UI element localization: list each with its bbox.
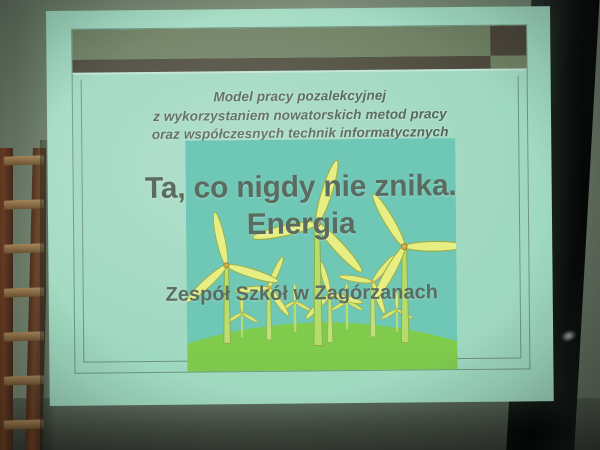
wall-bar-rung (4, 287, 44, 297)
slide-subtitle: Model pracy pozalekcyjnej z wykorzystani… (73, 85, 528, 145)
projection-screen: 1 (46, 6, 554, 406)
wall-bar-rung (4, 155, 44, 165)
title-line-2: Energia (74, 203, 528, 244)
wall-bar-post-left (0, 148, 13, 450)
curtain-highlight (559, 328, 578, 344)
presentation-slide: 1 (71, 24, 530, 373)
deco-block-dark-right (490, 25, 526, 55)
slide-header-decoration (72, 25, 526, 77)
slide-title: Ta, co nigdy nie znika. Energia (74, 166, 529, 244)
wall-bar-rung (4, 243, 44, 253)
slide-organization: Zespół Szkół w Zagórzanach (75, 280, 529, 307)
wall-bar-rung (4, 419, 44, 429)
room-photo-scene: 1 (0, 0, 600, 450)
title-line-1: Ta, co nigdy nie znika. (74, 166, 528, 207)
wall-bar-rung (4, 199, 44, 209)
deco-block-green-right (490, 55, 526, 68)
wall-bar-rung (4, 331, 44, 341)
deco-band-olive (72, 25, 526, 59)
wall-bar-rung (4, 375, 44, 385)
